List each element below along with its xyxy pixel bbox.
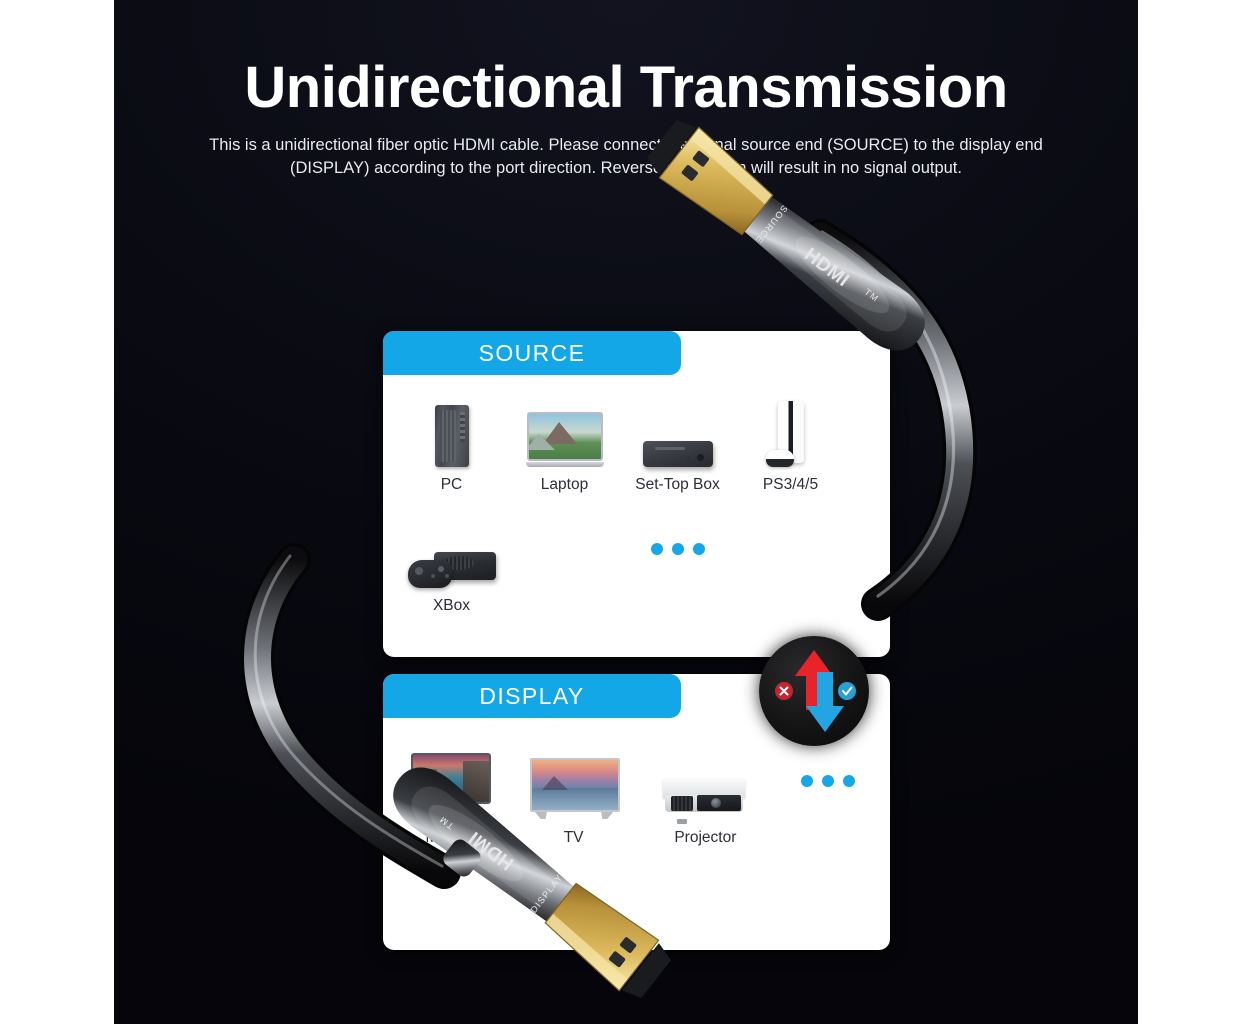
device-label: Monitor <box>426 829 478 847</box>
spacer-cell <box>508 510 621 615</box>
device-item-monitor[interactable]: Monitor <box>395 742 508 847</box>
playstation-icon <box>766 389 816 467</box>
device-item-xbox[interactable]: XBox <box>395 510 508 615</box>
display-device-row-1: Monitor TV <box>395 742 884 847</box>
projector-icon <box>663 742 747 820</box>
device-label: PC <box>441 476 463 494</box>
device-label: PS3/4/5 <box>763 476 818 494</box>
spacer-cell <box>734 510 847 615</box>
tv-icon <box>530 742 618 820</box>
cross-marker-icon <box>775 682 793 700</box>
display-panel-header: DISPLAY <box>383 674 681 718</box>
set-top-box-icon <box>643 389 713 467</box>
display-more-dots <box>771 742 884 847</box>
source-device-row-2: XBox <box>395 510 884 615</box>
source-device-row-1: PC Laptop <box>395 389 884 494</box>
source-panel: SOURCE PC <box>383 331 890 657</box>
svg-text:SOURCE: SOURCE <box>753 203 789 246</box>
monitor-icon <box>411 742 491 820</box>
device-label: TV <box>564 829 584 847</box>
device-label: Projector <box>674 829 736 847</box>
svg-text:HDMI: HDMI <box>800 244 853 291</box>
xbox-icon <box>408 510 496 588</box>
svg-text:TM: TM <box>863 287 881 304</box>
device-item-pc[interactable]: PC <box>395 389 508 494</box>
direction-indicator-badge <box>759 636 869 746</box>
source-panel-header: SOURCE <box>383 331 681 375</box>
device-item-set-top-box[interactable]: Set-Top Box <box>621 389 734 494</box>
more-dots-icon <box>651 510 705 588</box>
laptop-icon <box>526 389 604 467</box>
pc-tower-icon <box>435 389 469 467</box>
device-label: XBox <box>433 597 470 615</box>
image-stage: Unidirectional Transmission This is a un… <box>0 0 1252 1024</box>
device-item-tv[interactable]: TV <box>508 742 640 847</box>
source-panel-header-label: SOURCE <box>479 340 586 367</box>
source-device-grid: PC Laptop <box>383 375 890 615</box>
source-more-dots <box>621 510 734 615</box>
infographic-canvas: Unidirectional Transmission This is a un… <box>114 0 1138 1024</box>
display-panel-header-label: DISPLAY <box>479 683 584 710</box>
device-label: Laptop <box>541 476 588 494</box>
check-marker-icon <box>838 682 856 700</box>
page-title: Unidirectional Transmission <box>114 58 1138 119</box>
page-description: This is a unidirectional fiber optic HDM… <box>200 134 1052 181</box>
device-label: Set-Top Box <box>635 476 719 494</box>
more-dots-icon <box>801 742 855 820</box>
device-item-playstation[interactable]: PS3/4/5 <box>734 389 847 494</box>
device-item-laptop[interactable]: Laptop <box>508 389 621 494</box>
device-item-projector[interactable]: Projector <box>640 742 772 847</box>
